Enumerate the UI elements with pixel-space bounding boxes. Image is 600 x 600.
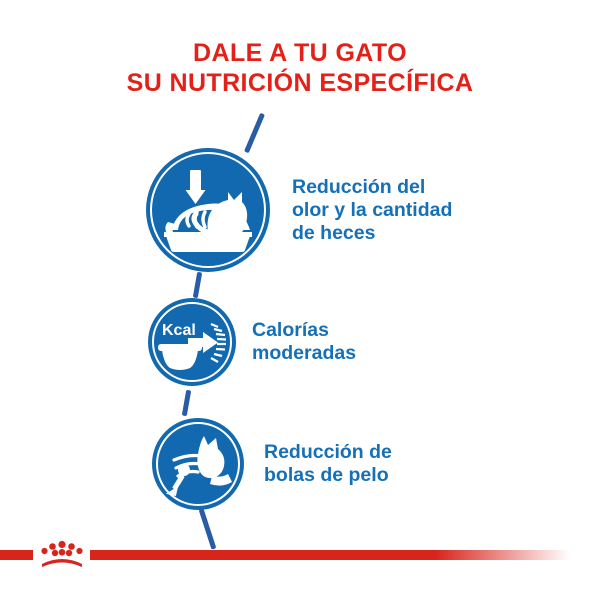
feature-list: Reducción del olor y la cantidad de hece… xyxy=(0,0,600,600)
feature-label-stool-odor: Reducción del olor y la cantidad de hece… xyxy=(292,176,452,245)
feature-item-stool-odor: Reducción del olor y la cantidad de hece… xyxy=(146,148,452,272)
brand-bar-left-segment xyxy=(0,550,33,560)
feature-item-hairball: Reducción de bolas de pelo xyxy=(152,418,392,510)
footer-brand-bar xyxy=(0,544,600,566)
brand-bar-right-segment xyxy=(90,550,570,560)
poster-canvas: DALE A TU GATO SU NUTRICIÓN ESPECÍFICA xyxy=(0,0,600,600)
cat-litter-box-icon xyxy=(146,148,270,272)
kcal-icon-text: Kcal xyxy=(162,322,196,339)
feature-label-hairball: Reducción de bolas de pelo xyxy=(264,441,392,487)
kcal-bowl-gauge-icon: Kcal xyxy=(148,298,236,386)
cat-hairball-icon xyxy=(152,418,244,510)
feature-label-calories: Calorías moderadas xyxy=(252,319,356,365)
royal-canin-crown-logo xyxy=(37,538,87,568)
feature-item-calories: Kcal xyxy=(148,298,356,386)
